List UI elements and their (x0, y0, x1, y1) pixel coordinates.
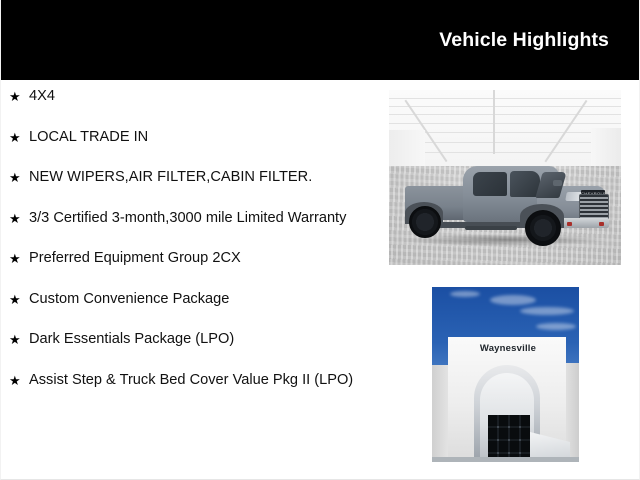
ceiling-line (389, 123, 621, 124)
list-item-label: LOCAL TRADE IN (29, 127, 369, 149)
entrance-glass-doors (488, 415, 530, 462)
list-item: ★ 4X4 (1, 86, 373, 108)
list-item: ★ 3/3 Certified 3-month,3000 mile Limite… (1, 208, 373, 230)
vehicle-highlights-page: Vehicle Highlights ★ 4X4 ★ LOCAL TRADE I… (0, 0, 640, 480)
star-bullet-icon: ★ (9, 370, 21, 392)
vehicle-photo: CHEVROLET (389, 90, 621, 265)
truck-assist-step (465, 226, 517, 230)
ceiling-line (389, 98, 621, 99)
ground (432, 457, 579, 462)
star-bullet-icon: ★ (9, 289, 21, 311)
star-bullet-icon: ★ (9, 167, 21, 189)
truck-mirror (553, 180, 562, 186)
vehicle-highlights-list: ★ 4X4 ★ LOCAL TRADE IN ★ NEW WIPERS,AIR … (1, 86, 373, 391)
star-bullet-icon: ★ (9, 329, 21, 351)
list-item: ★ Preferred Equipment Group 2CX (1, 248, 373, 270)
dealership-photo: Waynesville (432, 287, 579, 462)
cloud (490, 295, 536, 305)
truck-tow-hook (567, 222, 572, 226)
pickup-truck: CHEVROLET (403, 150, 609, 258)
star-bullet-icon: ★ (9, 127, 21, 149)
header-bar: Vehicle Highlights (1, 0, 640, 80)
list-item: ★ Assist Step & Truck Bed Cover Value Pk… (1, 370, 373, 392)
truck-rear-wheel (409, 206, 441, 238)
dealership-sign: Waynesville (460, 343, 556, 354)
list-item: ★ LOCAL TRADE IN (1, 127, 373, 149)
list-item: ★ Dark Essentials Package (LPO) (1, 329, 373, 351)
truck-rear-window (473, 172, 507, 196)
page-title: Vehicle Highlights (439, 28, 609, 52)
star-bullet-icon: ★ (9, 208, 21, 230)
cloud (536, 323, 576, 330)
ceiling-line (389, 114, 621, 115)
star-bullet-icon: ★ (9, 86, 21, 108)
truck-grille (579, 194, 609, 220)
list-item-label: Assist Step & Truck Bed Cover Value Pkg … (29, 370, 369, 392)
list-item-label: NEW WIPERS,AIR FILTER,CABIN FILTER. (29, 167, 369, 189)
list-item-label: Preferred Equipment Group 2CX (29, 248, 369, 270)
truck-tow-hook (599, 222, 604, 226)
list-item-label: 3/3 Certified 3-month,3000 mile Limited … (29, 208, 369, 230)
list-item: ★ NEW WIPERS,AIR FILTER,CABIN FILTER. (1, 167, 373, 189)
cloud (520, 307, 574, 315)
ceiling-line (389, 106, 621, 107)
list-item-label: Custom Convenience Package (29, 289, 369, 311)
truck-front-wheel (525, 210, 561, 246)
cloud (450, 291, 480, 297)
ceiling-beam (493, 90, 495, 154)
list-item-label: 4X4 (29, 86, 369, 108)
truck-shadow (405, 234, 605, 246)
star-bullet-icon: ★ (9, 248, 21, 270)
list-item-label: Dark Essentials Package (LPO) (29, 329, 369, 351)
list-item: ★ Custom Convenience Package (1, 289, 373, 311)
